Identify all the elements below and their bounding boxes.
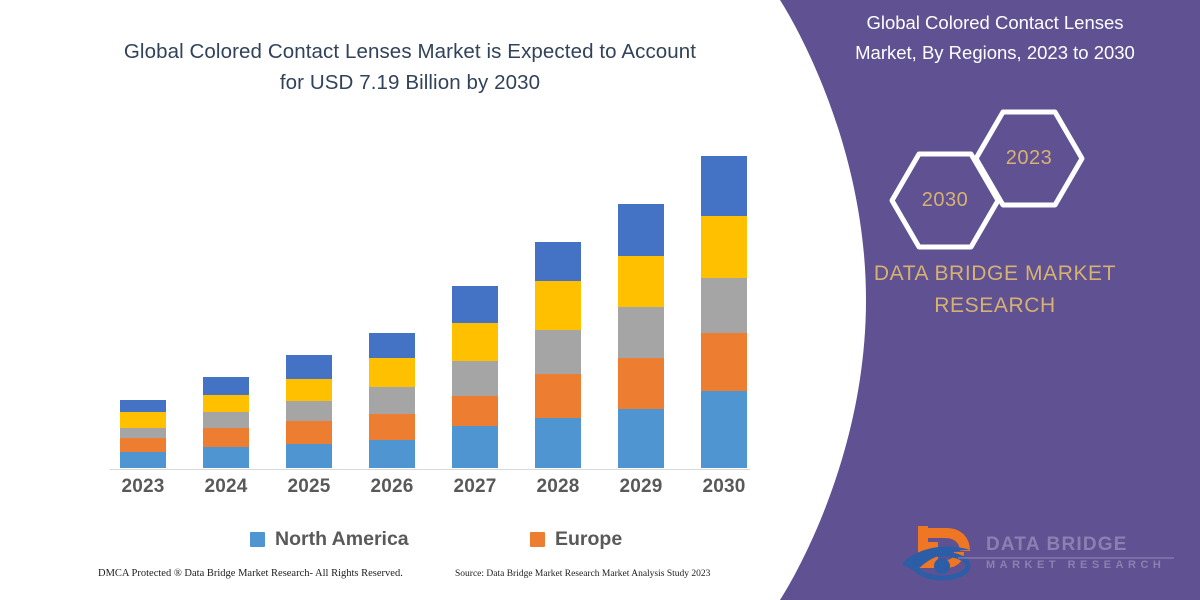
x-tick-2029: 2029: [601, 476, 681, 498]
stacked-bar: [286, 355, 332, 468]
stacked-bar: [369, 333, 415, 468]
legend-swatch-icon: [530, 532, 545, 547]
bar-segment-north-america: [452, 426, 498, 468]
bar-segment-series-5: [701, 156, 747, 216]
brand-name-line-1: DATA BRIDGE MARKET: [800, 258, 1190, 290]
bar-segment-north-america: [369, 440, 415, 468]
footer: DMCA Protected ® Data Bridge Market Rese…: [0, 568, 880, 594]
chart-title-line-2: for USD 7.19 Billion by 2030: [60, 67, 760, 98]
bar-segment-series-5: [535, 242, 581, 281]
bar-segment-series-4: [452, 323, 498, 361]
bar-segment-series-3: [369, 387, 415, 414]
bar-segment-series-3: [618, 307, 664, 358]
legend-item-europe[interactable]: Europe: [530, 528, 622, 551]
x-axis-tick-labels: 20232024202520262027202820292030: [110, 476, 750, 504]
bar-group-2028: [535, 242, 581, 468]
data-bridge-logo-icon: DATA BRIDGE MARKET RESEARCH: [898, 520, 1188, 582]
stacked-bar: [203, 377, 249, 468]
bar-segment-north-america: [701, 391, 747, 468]
hexagon-badge-2023: 2023: [970, 107, 1088, 210]
bar-segment-series-4: [535, 281, 581, 330]
bar-group-2029: [618, 204, 664, 468]
bar-segment-series-5: [120, 400, 166, 412]
bar-segment-europe: [452, 396, 498, 426]
plot-area: [110, 140, 750, 470]
chart-title-line-1: Global Colored Contact Lenses Market is …: [60, 36, 760, 67]
bar-segment-europe: [120, 438, 166, 452]
bar-segment-series-5: [369, 333, 415, 358]
bar-segment-series-4: [203, 395, 249, 412]
bar-group-2023: [120, 400, 166, 468]
bar-segment-series-3: [701, 278, 747, 333]
stacked-bar: [701, 156, 747, 468]
bar-segment-north-america: [120, 452, 166, 468]
bar-group-2025: [286, 355, 332, 468]
legend-label: North America: [275, 528, 409, 551]
hexagon-badge-2023-label: 2023: [970, 107, 1088, 210]
bar-segment-europe: [618, 358, 664, 409]
x-tick-2025: 2025: [269, 476, 349, 498]
stacked-bar: [120, 400, 166, 468]
bar-segment-europe: [286, 421, 332, 444]
bar-segment-series-3: [452, 361, 498, 396]
footer-source: Source: Data Bridge Market Research Mark…: [455, 569, 710, 579]
chart-title: Global Colored Contact Lenses Market is …: [60, 36, 760, 98]
bar-segment-series-3: [286, 401, 332, 421]
stacked-bar: [452, 286, 498, 468]
bar-segment-series-3: [535, 330, 581, 374]
company-logo: DATA BRIDGE MARKET RESEARCH: [898, 520, 1188, 582]
bar-group-2030: [701, 156, 747, 468]
bar-segment-series-3: [203, 412, 249, 428]
brand-panel: Global Colored Contact Lenses Market, By…: [780, 0, 1200, 600]
brand-panel-title: Global Colored Contact Lenses Market, By…: [800, 8, 1190, 68]
hexagon-badges: 2030 2023: [820, 105, 1200, 230]
bar-segment-north-america: [203, 447, 249, 468]
x-tick-2024: 2024: [186, 476, 266, 498]
bar-segment-series-4: [618, 256, 664, 307]
legend-swatch-icon: [250, 532, 265, 547]
brand-name: DATA BRIDGE MARKET RESEARCH: [800, 258, 1190, 322]
stacked-bar: [618, 204, 664, 468]
x-tick-2028: 2028: [518, 476, 598, 498]
bar-segment-series-5: [452, 286, 498, 323]
infographic-root: Global Colored Contact Lenses Market is …: [0, 0, 1200, 600]
logo-wordmark-primary: DATA BRIDGE: [986, 534, 1128, 555]
bar-segment-series-4: [701, 216, 747, 278]
bar-segment-series-5: [203, 377, 249, 395]
legend-item-north-america[interactable]: North America: [250, 528, 409, 551]
x-tick-2023: 2023: [103, 476, 183, 498]
x-tick-2027: 2027: [435, 476, 515, 498]
bar-series-container: [110, 140, 750, 469]
footer-copyright: DMCA Protected ® Data Bridge Market Rese…: [98, 568, 403, 579]
x-tick-2026: 2026: [352, 476, 432, 498]
brand-title-line-2: Market, By Regions, 2023 to 2030: [800, 38, 1190, 68]
x-tick-2030: 2030: [684, 476, 764, 498]
bar-group-2026: [369, 333, 415, 468]
bar-group-2024: [203, 377, 249, 468]
bar-segment-north-america: [286, 444, 332, 468]
bar-segment-north-america: [618, 409, 664, 468]
chart-legend: North AmericaEurope: [110, 528, 750, 558]
bar-segment-series-4: [120, 412, 166, 428]
bar-group-2027: [452, 286, 498, 468]
bar-segment-europe: [535, 374, 581, 418]
bar-segment-series-5: [286, 355, 332, 379]
bar-segment-europe: [203, 428, 249, 447]
bar-segment-europe: [701, 333, 747, 391]
bar-segment-series-4: [286, 379, 332, 401]
brand-title-line-1: Global Colored Contact Lenses: [800, 8, 1190, 38]
chart-panel: Global Colored Contact Lenses Market is …: [0, 0, 880, 600]
brand-panel-content: Global Colored Contact Lenses Market, By…: [780, 0, 1200, 600]
bar-segment-series-4: [369, 358, 415, 387]
logo-wordmark-secondary: MARKET RESEARCH: [986, 559, 1165, 571]
bar-segment-north-america: [535, 418, 581, 468]
stacked-bar: [535, 242, 581, 468]
brand-name-line-2: RESEARCH: [800, 290, 1190, 322]
bar-segment-europe: [369, 414, 415, 440]
bar-segment-series-3: [120, 428, 166, 438]
bar-segment-series-5: [618, 204, 664, 256]
x-axis-line: [110, 469, 750, 470]
legend-label: Europe: [555, 528, 622, 551]
